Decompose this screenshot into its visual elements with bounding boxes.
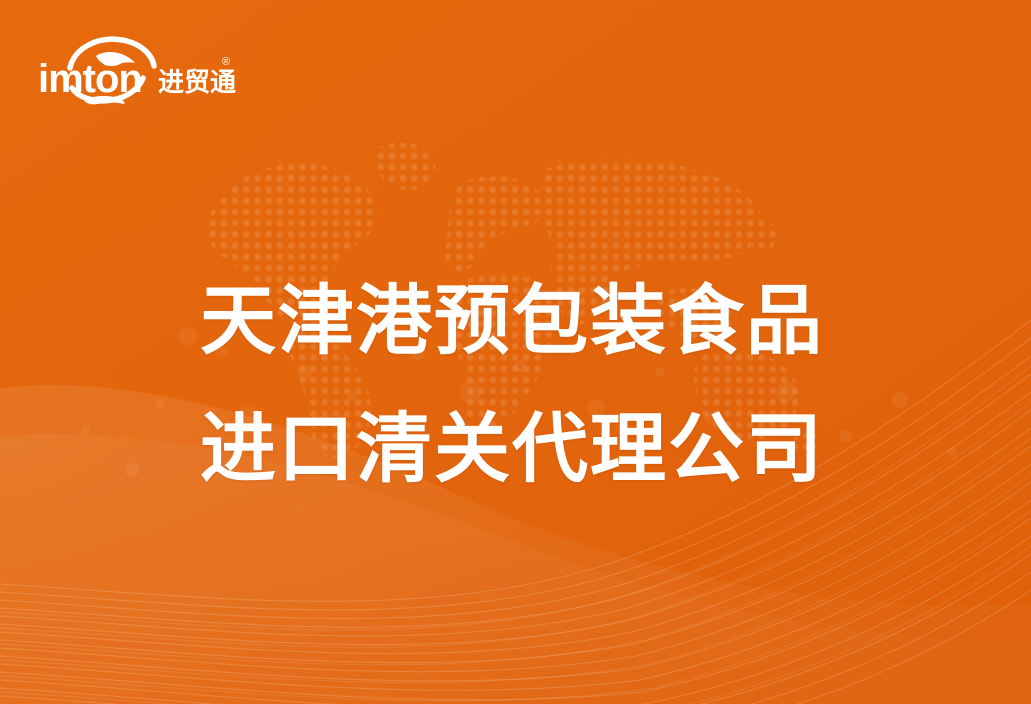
logo-chinese-name: 进贸通 xyxy=(158,67,236,97)
headline-line-1: 天津港预包装食品 xyxy=(200,258,824,386)
brand-logo[interactable]: imton 进贸通 ® xyxy=(36,34,226,106)
logo-wordmark: imton xyxy=(38,57,142,101)
headline: 天津港预包装食品 进口清关代理公司 xyxy=(200,258,824,514)
trademark-symbol: ® xyxy=(222,56,230,68)
promo-banner: imton 进贸通 ® 天津港预包装食品 进口清关代理公司 xyxy=(0,0,1031,704)
headline-line-2: 进口清关代理公司 xyxy=(200,386,824,514)
